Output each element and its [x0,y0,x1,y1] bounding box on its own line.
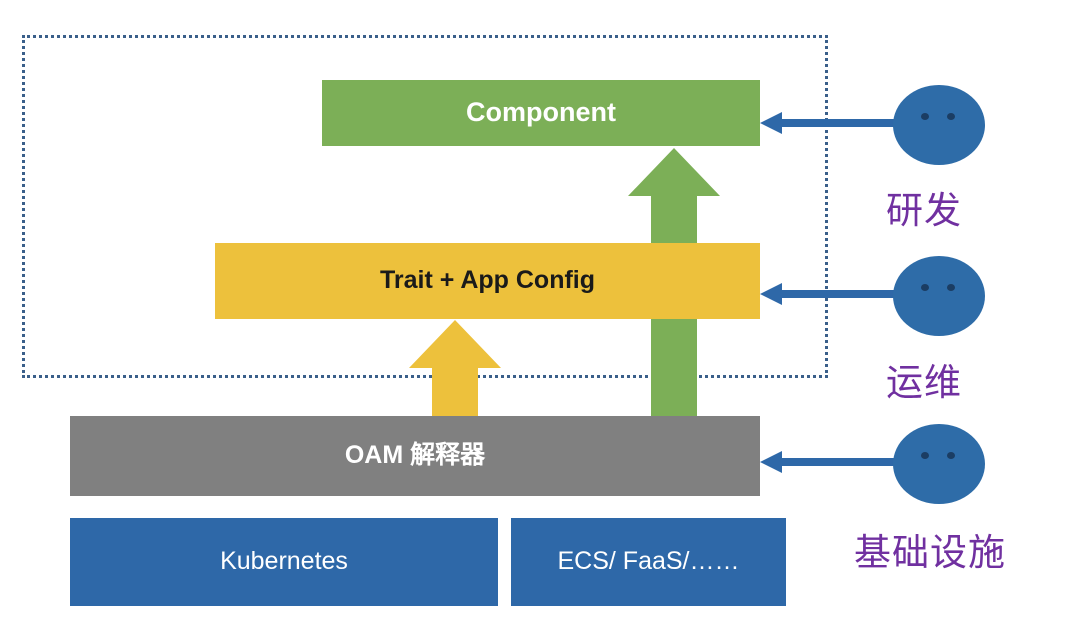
kubernetes-box-label: Kubernetes [220,548,348,576]
connector-trait-arrow [760,281,900,307]
ecs-faas-box[interactable]: ECS/ FaaS/…… [511,518,786,606]
diagram-canvas: Component Trait + App Config OAM 解释器 Kub… [0,0,1080,631]
eye-right-icon [947,113,955,120]
component-box[interactable]: Component [322,80,760,146]
eye-right-icon [947,452,955,459]
eye-right-icon [947,284,955,291]
persona-label-dev: 研发 [886,180,962,234]
kubernetes-box[interactable]: Kubernetes [70,518,498,606]
persona-label-ops: 运维 [886,352,962,406]
eye-left-icon [921,113,929,120]
trait-app-config-box[interactable]: Trait + App Config [215,243,760,319]
eye-left-icon [921,452,929,459]
connector-oam-arrow [760,449,900,475]
trait-app-config-box-label: Trait + App Config [380,267,595,295]
ecs-faas-box-label: ECS/ FaaS/…… [558,548,740,576]
eye-left-icon [921,284,929,291]
persona-face-icon-infra [893,424,985,504]
persona-label-infra: 基础设施 [854,522,1006,576]
component-box-label: Component [466,98,616,128]
oam-interpreter-box-label: OAM 解释器 [345,442,485,470]
oam-interpreter-box[interactable]: OAM 解释器 [70,416,760,496]
connector-component-arrow [760,110,900,136]
persona-face-icon-ops [893,256,985,336]
persona-face-icon-dev [893,85,985,165]
yellow-up-arrow [409,320,501,420]
